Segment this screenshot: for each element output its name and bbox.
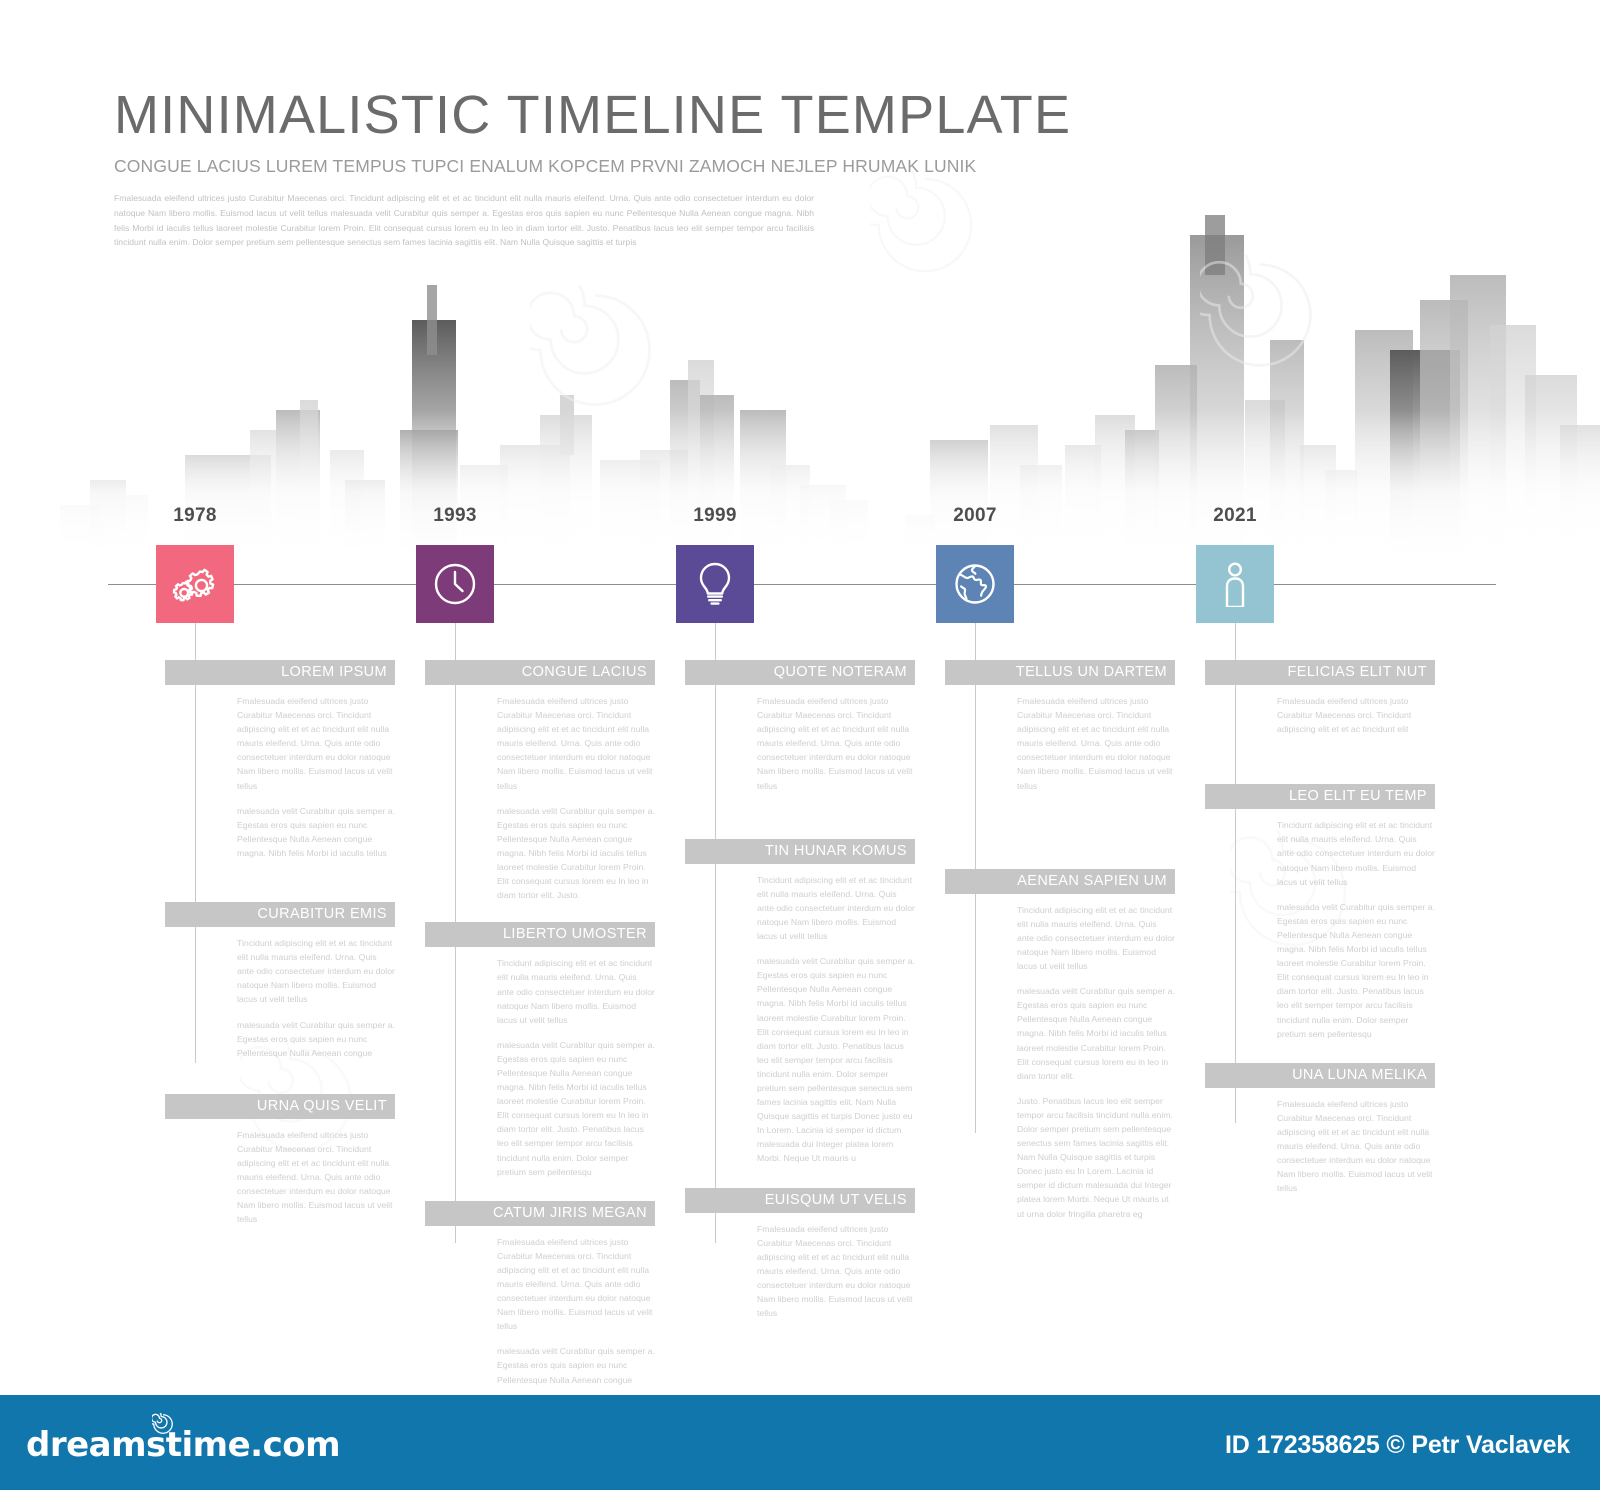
- content-block: LOREM IPSUM Fmalesuada eleifend ultrices…: [165, 660, 395, 860]
- city-skyline-background: [0, 215, 1600, 560]
- block-body: Fmalesuada eleifend ultrices justo Curab…: [945, 685, 1175, 793]
- content-block: CATUM JIRIS MEGAN Fmalesuada eleifend ul…: [425, 1201, 655, 1387]
- block-paragraph: Fmalesuada eleifend ultrices justo Curab…: [237, 1128, 395, 1227]
- block-paragraph: Tincidunt adipiscing elit et et ac tinci…: [237, 936, 395, 1006]
- block-body: Fmalesuada eleifend ultrices justo Curab…: [165, 1119, 395, 1227]
- block-body: Fmalesuada eleifend ultrices justo Curab…: [1205, 1088, 1435, 1196]
- milestone-tile[interactable]: [676, 545, 754, 623]
- milestone-marker-1993[interactable]: 1993: [416, 545, 494, 623]
- block-heading: AENEAN SAPIEN UM: [945, 869, 1175, 894]
- milestone-marker-2007[interactable]: 2007: [936, 545, 1014, 623]
- milestone-year: 1993: [416, 505, 494, 527]
- dreamstime-logo[interactable]: dreamstime.com: [26, 1425, 340, 1465]
- milestone-column-2007: TELLUS UN DARTEM Fmalesuada eleifend ult…: [945, 660, 1175, 1239]
- block-paragraph: Tincidunt adipiscing elit et et ac tinci…: [497, 956, 655, 1026]
- content-block: AENEAN SAPIEN UM Tincidunt adipiscing el…: [945, 869, 1175, 1221]
- block-body: Fmalesuada eleifend ultrices justo Curab…: [425, 685, 655, 902]
- block-paragraph: Tincidunt adipiscing elit et et ac tinci…: [1017, 903, 1175, 973]
- block-paragraph: Fmalesuada eleifend ultrices justo Curab…: [757, 1222, 915, 1321]
- content-block: FELICIAS ELIT NUT Fmalesuada eleifend ul…: [1205, 660, 1435, 736]
- block-paragraph: Fmalesuada eleifend ultrices justo Curab…: [497, 694, 655, 793]
- block-body: Fmalesuada eleifend ultrices justo Curab…: [425, 1226, 655, 1387]
- page-title: MINIMALISTIC TIMELINE TEMPLATE: [114, 88, 1114, 142]
- dreamstime-spiral-icon: [152, 1413, 174, 1440]
- block-paragraph: Justo. Penatibus lacus leo elit semper t…: [1017, 1094, 1175, 1221]
- content-block: EUISQUM UT VELIS Fmalesuada eleifend ult…: [685, 1188, 915, 1321]
- milestone-tile[interactable]: [936, 545, 1014, 623]
- person-icon: [1221, 561, 1249, 607]
- block-body: Tincidunt adipiscing elit et et ac tinci…: [165, 927, 395, 1060]
- block-paragraph: malesuada velit Curabitur quis semper a.…: [1277, 900, 1435, 1041]
- block-heading: TIN HUNAR KOMUS: [685, 839, 915, 864]
- milestone-column-1978: LOREM IPSUM Fmalesuada eleifend ultrices…: [165, 660, 395, 1244]
- page-subtitle: CONGUE LACIUS LUREM TEMPUS TUPCI ENALUM …: [114, 156, 1114, 177]
- block-paragraph: Tincidunt adipiscing elit et et ac tinci…: [1277, 818, 1435, 888]
- intro-paragraph: Fmalesuada eleifend ultrices justo Curab…: [114, 191, 814, 250]
- stock-footer-bar: dreamstime.com ID 172358625 © Petr Vacla…: [0, 1395, 1600, 1490]
- block-heading: CATUM JIRIS MEGAN: [425, 1201, 655, 1226]
- content-block: QUOTE NOTERAM Fmalesuada eleifend ultric…: [685, 660, 915, 793]
- content-block: TIN HUNAR KOMUS Tincidunt adipiscing eli…: [685, 839, 915, 1166]
- milestone-year: 2021: [1196, 505, 1274, 527]
- block-paragraph: malesuada velit Curabitur quis semper a.…: [497, 1038, 655, 1179]
- block-body: Tincidunt adipiscing elit et et ac tinci…: [685, 864, 915, 1166]
- block-paragraph: Fmalesuada eleifend ultrices justo Curab…: [1017, 694, 1175, 793]
- block-body: Tincidunt adipiscing elit et et ac tinci…: [1205, 809, 1435, 1040]
- skyline-fade-overlay: [0, 410, 1600, 560]
- block-heading: TELLUS UN DARTEM: [945, 660, 1175, 685]
- block-paragraph: malesuada velit Curabitur quis semper a.…: [757, 954, 915, 1165]
- content-block: URNA QUIS VELIT Fmalesuada eleifend ultr…: [165, 1094, 395, 1227]
- content-block: LEO ELIT EU TEMP Tincidunt adipiscing el…: [1205, 784, 1435, 1040]
- content-block: TELLUS UN DARTEM Fmalesuada eleifend ult…: [945, 660, 1175, 793]
- block-heading: CONGUE LACIUS: [425, 660, 655, 685]
- block-body: Fmalesuada eleifend ultrices justo Curab…: [685, 685, 915, 793]
- block-paragraph: Fmalesuada eleifend ultrices justo Curab…: [237, 694, 395, 793]
- milestone-tile[interactable]: [1196, 545, 1274, 623]
- block-body: Tincidunt adipiscing elit et et ac tinci…: [425, 947, 655, 1178]
- content-block: UNA LUNA MELIKA Fmalesuada eleifend ultr…: [1205, 1063, 1435, 1196]
- milestone-tile[interactable]: [156, 545, 234, 623]
- timeline-infographic: MINIMALISTIC TIMELINE TEMPLATE CONGUE LA…: [0, 0, 1600, 1490]
- block-heading: URNA QUIS VELIT: [165, 1094, 395, 1119]
- block-body: Fmalesuada eleifend ultrices justo Curab…: [1205, 685, 1435, 736]
- timeline-axis: [108, 584, 1496, 585]
- block-paragraph: malesuada velit Curabitur quis semper a.…: [497, 804, 655, 903]
- block-heading: EUISQUM UT VELIS: [685, 1188, 915, 1213]
- block-paragraph: Fmalesuada eleifend ultrices justo Curab…: [1277, 694, 1435, 736]
- milestone-marker-1978[interactable]: 1978: [156, 545, 234, 623]
- block-paragraph: Fmalesuada eleifend ultrices justo Curab…: [497, 1235, 655, 1334]
- header: MINIMALISTIC TIMELINE TEMPLATE CONGUE LA…: [114, 88, 1114, 250]
- milestone-column-1993: CONGUE LACIUS Fmalesuada eleifend ultric…: [425, 660, 655, 1405]
- globe-icon: [953, 562, 997, 606]
- milestone-column-1999: QUOTE NOTERAM Fmalesuada eleifend ultric…: [685, 660, 915, 1338]
- clock-icon: [433, 562, 477, 606]
- lightbulb-icon: [698, 561, 732, 607]
- block-paragraph: malesuada velit Curabitur quis semper a.…: [237, 1018, 395, 1060]
- milestone-year: 1978: [156, 505, 234, 527]
- milestone-marker-2021[interactable]: 2021: [1196, 545, 1274, 623]
- block-paragraph: Fmalesuada eleifend ultrices justo Curab…: [757, 694, 915, 793]
- block-heading: LEO ELIT EU TEMP: [1205, 784, 1435, 809]
- content-block: CONGUE LACIUS Fmalesuada eleifend ultric…: [425, 660, 655, 902]
- milestone-year: 1999: [676, 505, 754, 527]
- gears-icon: [172, 563, 218, 605]
- content-block: LIBERTO UMOSTER Tincidunt adipiscing eli…: [425, 922, 655, 1178]
- block-paragraph: Fmalesuada eleifend ultrices justo Curab…: [1277, 1097, 1435, 1196]
- block-paragraph: malesuada velit Curabitur quis semper a.…: [497, 1344, 655, 1386]
- milestone-tile[interactable]: [416, 545, 494, 623]
- image-credit: ID 172358625 © Petr Vaclavek: [1225, 1431, 1570, 1460]
- block-heading: CURABITUR EMIS: [165, 902, 395, 927]
- block-heading: UNA LUNA MELIKA: [1205, 1063, 1435, 1088]
- block-body: Fmalesuada eleifend ultrices justo Curab…: [165, 685, 395, 860]
- block-heading: FELICIAS ELIT NUT: [1205, 660, 1435, 685]
- milestone-year: 2007: [936, 505, 1014, 527]
- block-body: Tincidunt adipiscing elit et et ac tinci…: [945, 894, 1175, 1221]
- block-paragraph: Tincidunt adipiscing elit et et ac tinci…: [757, 873, 915, 943]
- content-block: CURABITUR EMIS Tincidunt adipiscing elit…: [165, 902, 395, 1060]
- block-heading: LIBERTO UMOSTER: [425, 922, 655, 947]
- block-body: Fmalesuada eleifend ultrices justo Curab…: [685, 1213, 915, 1321]
- block-paragraph: malesuada velit Curabitur quis semper a.…: [237, 804, 395, 860]
- block-heading: QUOTE NOTERAM: [685, 660, 915, 685]
- milestone-marker-1999[interactable]: 1999: [676, 545, 754, 623]
- block-heading: LOREM IPSUM: [165, 660, 395, 685]
- milestone-column-2021: FELICIAS ELIT NUT Fmalesuada eleifend ul…: [1205, 660, 1435, 1213]
- block-paragraph: malesuada velit Curabitur quis semper a.…: [1017, 984, 1175, 1083]
